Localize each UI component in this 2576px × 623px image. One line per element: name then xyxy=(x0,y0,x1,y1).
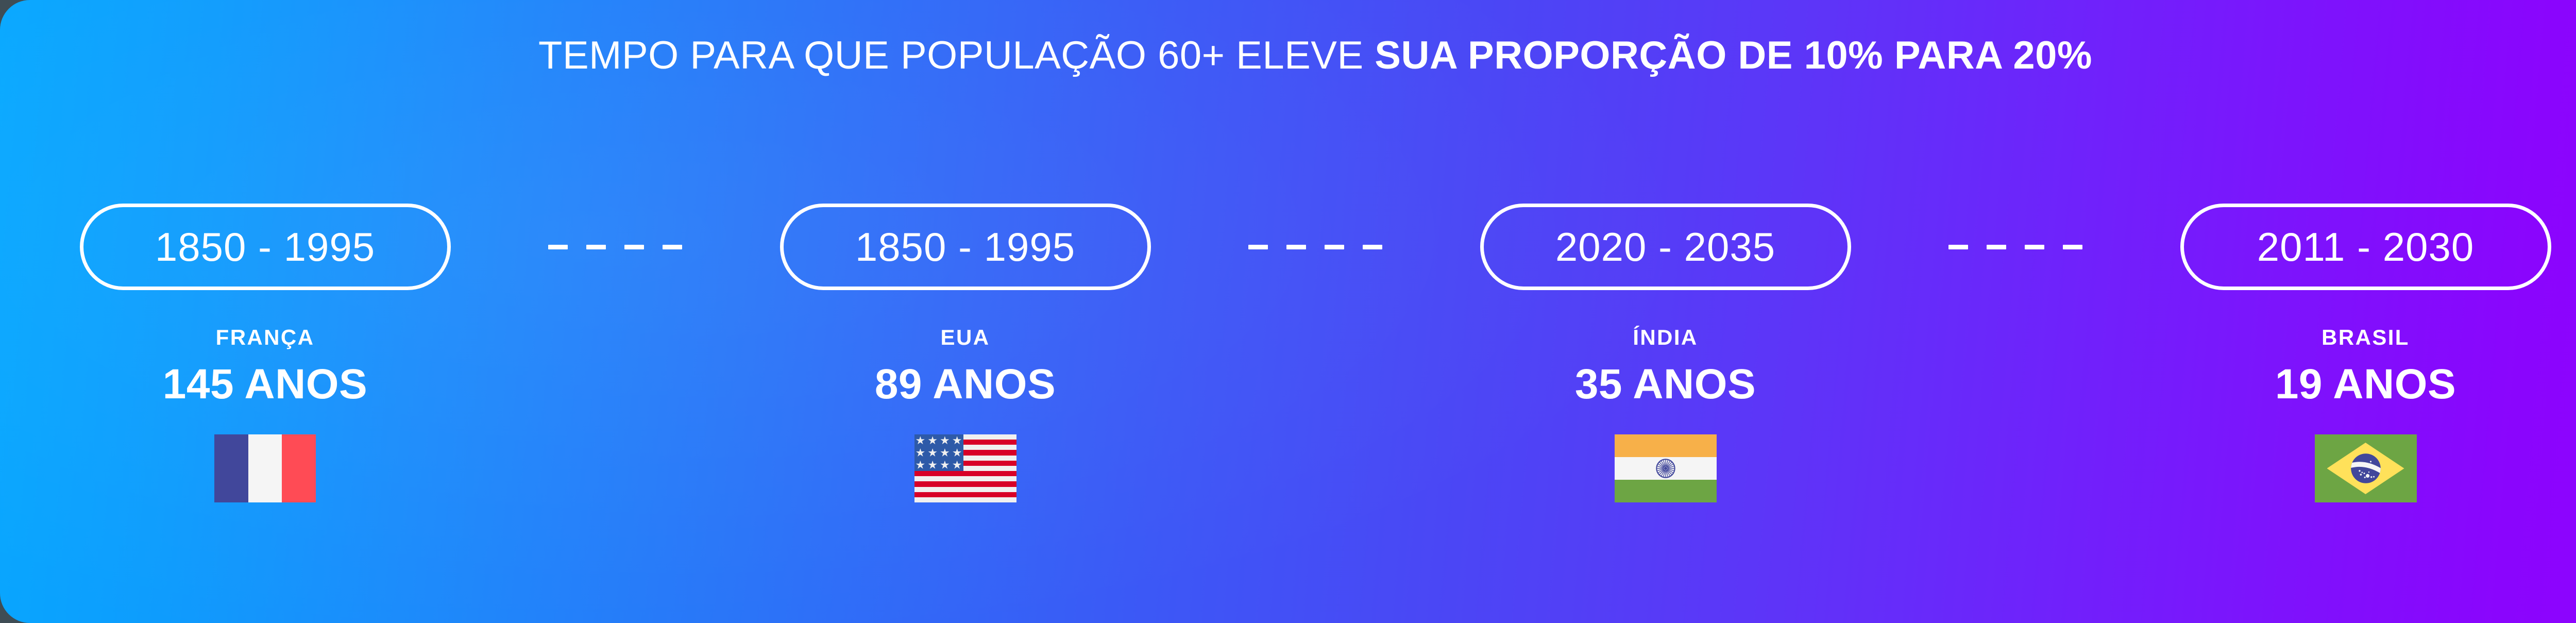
country-card-eua[interactable]: 1850 - 1995 EUA 89 ANOS xyxy=(700,204,1230,502)
period-pill-franca[interactable]: 1850 - 1995 xyxy=(80,204,451,290)
years-value-franca: 145 ANOS xyxy=(163,360,367,409)
country-name-india: ÍNDIA xyxy=(1633,325,1698,350)
title-bold-segment: SUA PROPORÇÃO DE 10% PARA 20% xyxy=(1375,33,2092,77)
flag-band-blue xyxy=(214,434,248,502)
years-value-brasil: 19 ANOS xyxy=(2275,360,2456,409)
dash-segment xyxy=(2063,245,2082,249)
flag-stripe xyxy=(914,481,1016,486)
flag-star-icon xyxy=(953,448,961,457)
country-name-franca: FRANÇA xyxy=(216,325,315,350)
page-title: TEMPO PARA QUE POPULAÇÃO 60+ ELEVE SUA P… xyxy=(0,36,2576,75)
title-light-segment: TEMPO PARA QUE POPULAÇÃO 60+ ELEVE xyxy=(538,33,1375,77)
connector-dashes-2 xyxy=(1230,204,1400,290)
country-card-india[interactable]: 2020 - 2035 ÍNDIA 35 ANOS xyxy=(1400,204,1930,502)
dash-segment xyxy=(1325,245,1344,249)
flag-star-icon xyxy=(953,461,961,469)
flag-star-icon xyxy=(928,461,937,469)
brazil-flag-icon xyxy=(2315,434,2417,502)
flag-star-icon xyxy=(953,436,961,445)
dash-segment xyxy=(2025,245,2044,249)
flag-star-icon xyxy=(940,436,949,445)
flag-band-green xyxy=(1615,480,1717,502)
years-value-india: 35 ANOS xyxy=(1575,360,1756,409)
dash-segment xyxy=(548,245,568,249)
country-timeline: 1850 - 1995 FRANÇA 145 ANOS 1850 - 1995 … xyxy=(0,204,2576,502)
dash-segment xyxy=(1948,245,1968,249)
flag-star-icon xyxy=(940,461,949,469)
dash-segment xyxy=(624,245,644,249)
country-name-eua: EUA xyxy=(941,325,990,350)
france-flag-icon xyxy=(214,434,316,502)
dash-segment xyxy=(1987,245,2006,249)
ashoka-chakra-icon xyxy=(1654,457,1677,480)
dash-segment xyxy=(1248,245,1268,249)
flag-star-icon xyxy=(940,448,949,457)
dash-segment xyxy=(1286,245,1306,249)
usa-flag-icon xyxy=(914,434,1016,502)
country-card-brasil[interactable]: 2011 - 2030 BRASIL 19 ANOS xyxy=(2100,204,2576,502)
country-name-brasil: BRASIL xyxy=(2321,325,2410,350)
connector-dashes-3 xyxy=(1930,204,2100,290)
india-flag-icon xyxy=(1615,434,1717,502)
period-pill-india[interactable]: 2020 - 2035 xyxy=(1480,204,1851,290)
country-card-franca[interactable]: 1850 - 1995 FRANÇA 145 ANOS xyxy=(0,204,530,502)
flag-star-icon xyxy=(916,436,925,445)
flag-band-red xyxy=(282,434,316,502)
flag-stripe xyxy=(914,471,1016,476)
flag-star-icon xyxy=(916,448,925,457)
dash-segment xyxy=(1363,245,1382,249)
period-pill-brasil[interactable]: 2011 - 2030 xyxy=(2180,204,2551,290)
flag-band-saffron xyxy=(1615,434,1717,457)
flag-star-icon xyxy=(928,448,937,457)
years-value-eua: 89 ANOS xyxy=(875,360,1056,409)
connector-dashes-1 xyxy=(530,204,700,290)
dash-segment xyxy=(586,245,606,249)
flag-stripe xyxy=(914,492,1016,497)
flag-canton xyxy=(914,434,963,471)
period-pill-eua[interactable]: 1850 - 1995 xyxy=(780,204,1151,290)
flag-band-white xyxy=(248,434,282,502)
dash-segment xyxy=(663,245,682,249)
flag-star-icon xyxy=(916,461,925,469)
flag-star-icon xyxy=(928,436,937,445)
infographic-canvas: TEMPO PARA QUE POPULAÇÃO 60+ ELEVE SUA P… xyxy=(0,0,2576,623)
flag-globe xyxy=(2350,453,2381,484)
